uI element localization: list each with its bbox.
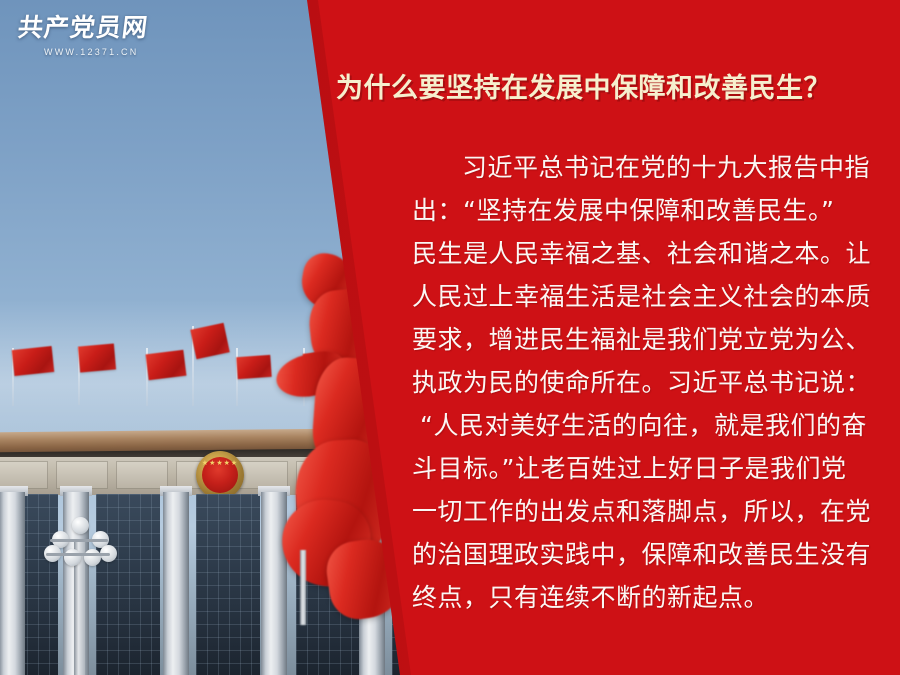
body-line: 终点，只有连续不断的新起点。	[412, 576, 890, 619]
body-line: 执政为民的使命所在。习近平总书记说：	[412, 361, 890, 404]
lamp-post	[44, 505, 114, 675]
body-line: 民生是人民幸福之基、社会和谐之本。让	[412, 232, 890, 275]
body-line: 人民过上幸福生活是社会主义社会的本质	[412, 275, 890, 318]
headline: 为什么要坚持在发展中保障和改善民生？	[336, 72, 892, 106]
logo-wordmark: 共产党员网	[16, 14, 149, 42]
logo-url: WWW.12371.CN	[18, 47, 138, 57]
building-window-bay	[196, 494, 260, 675]
national-emblem-icon: ★★★★★	[196, 451, 244, 499]
body-line: 出：“坚持在发展中保障和改善民生。”	[412, 189, 890, 232]
emblem-stars: ★★★★★	[196, 460, 244, 467]
site-logo[interactable]: 共产党员网 WWW.12371.CN	[18, 14, 148, 60]
poster: ★★★★★	[0, 0, 900, 675]
body-line: 要求，增进民生福祉是我们党立党为公、	[412, 318, 890, 361]
building-column	[0, 492, 25, 675]
building-column	[163, 492, 189, 675]
body-copy: 习近平总书记在党的十九大报告中指 出：“坚持在发展中保障和改善民生。” 民生是人…	[412, 146, 890, 619]
body-line: 斗目标。”让老百姓过上好日子是我们党	[412, 447, 890, 490]
body-line: “人民对美好生活的向往，就是我们的奋	[412, 404, 890, 447]
body-line: 的治国理政实践中，保障和改善民生没有	[412, 533, 890, 576]
body-line: 一切工作的出发点和落脚点，所以，在党	[412, 490, 890, 533]
body-line: 习近平总书记在党的十九大报告中指	[412, 146, 890, 189]
